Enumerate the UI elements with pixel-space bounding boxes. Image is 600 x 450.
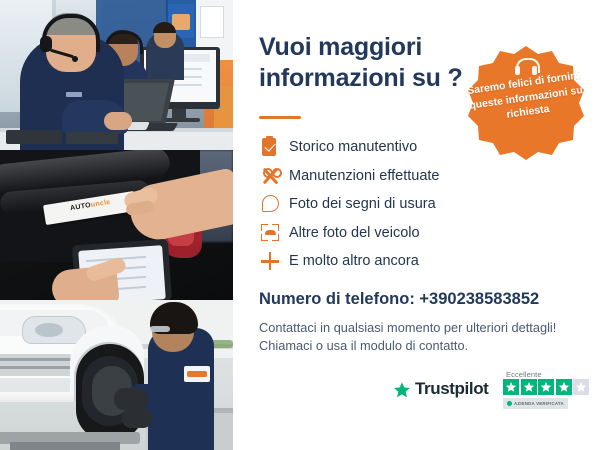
clipboard-check-icon [259,136,289,158]
phone-number[interactable]: Numero di telefono: +390238583852 [259,290,539,309]
list-item: Manutenzioni effettuate [259,162,559,191]
feature-label: Manutenzioni effettuate [289,168,439,184]
photo-call-center [0,0,233,150]
page-title-line2: informazioni su ? [259,64,463,92]
star-1 [503,379,519,395]
feature-list: Storico manutentivo Manutenzioni effettu… [259,133,559,276]
verified-check-icon [507,401,512,406]
feature-label: Altre foto del veicolo [289,225,420,241]
feature-label: E molto altro ancora [289,253,419,269]
photo-column: AUTOuncle [0,0,233,450]
star-3 [538,379,554,395]
plus-icon [259,250,289,272]
verified-business-badge: AZIENDA VERIFICATA [503,398,568,409]
verified-text: AZIENDA VERIFICATA [514,401,564,406]
trustpilot-widget[interactable]: Trustpilot Eccellente AZIENDA VERIFICATA [389,370,589,418]
info-panel: Vuoi maggiori informazioni su ? Saremo f… [233,0,600,450]
list-item: Foto dei segni di usura [259,190,559,219]
photo-frame-car-icon [259,222,289,244]
contact-line1: Contattaci in qualsiasi momento per ulte… [259,320,556,335]
contact-instructions: Contattaci in qualsiasi momento per ulte… [259,319,556,355]
photo-mechanic-wheel [0,300,233,450]
feature-label: Foto dei segni di usura [289,196,436,212]
star-4 [556,379,572,395]
list-item: Storico manutentivo [259,133,559,162]
page-title-line1: Vuoi maggiori [259,33,422,61]
trustpilot-star-icon [393,381,411,399]
photo-sticker-on-car: AUTOuncle [0,150,233,300]
trustpilot-brand: Trustpilot [415,379,488,399]
list-item: E molto altro ancora [259,247,559,276]
feature-label: Storico manutentivo [289,139,417,155]
page-title: Vuoi maggiori informazioni su ? [259,32,489,94]
magnifier-icon [259,193,289,215]
contact-line2: Chiamaci o usa il modulo di contatto. [259,338,468,353]
star-2 [521,379,537,395]
headset-icon [516,58,536,74]
list-item: Altre foto del veicolo [259,219,559,248]
promo-card: AUTOuncle Vuoi maggiori [0,0,600,450]
star-5-partial [573,379,589,395]
trustpilot-stars [503,379,589,395]
crossed-tools-icon [259,165,289,187]
title-divider [259,116,301,119]
trustpilot-rating-label: Eccellente [506,370,542,379]
